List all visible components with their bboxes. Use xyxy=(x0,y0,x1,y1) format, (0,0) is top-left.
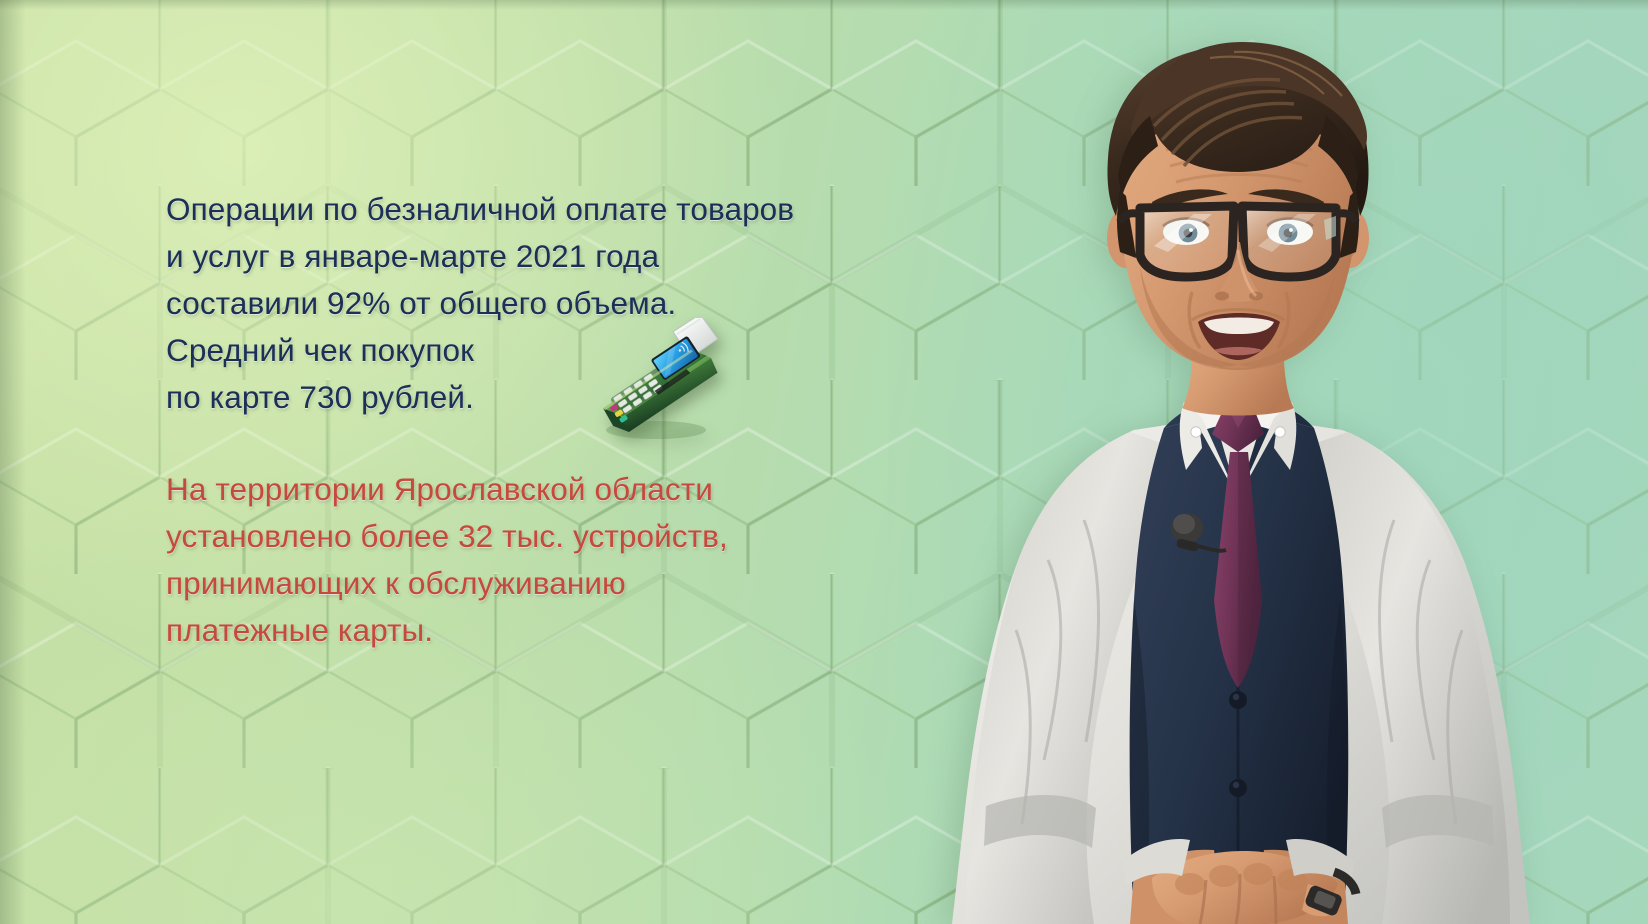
video-frame: Операции по безналичной оплате товаров и… xyxy=(0,0,1648,924)
pos-terminal-icon xyxy=(578,318,738,446)
slide-text-secondary: На территории Ярославской области устано… xyxy=(166,466,728,654)
presenter-video-figure xyxy=(834,0,1648,924)
